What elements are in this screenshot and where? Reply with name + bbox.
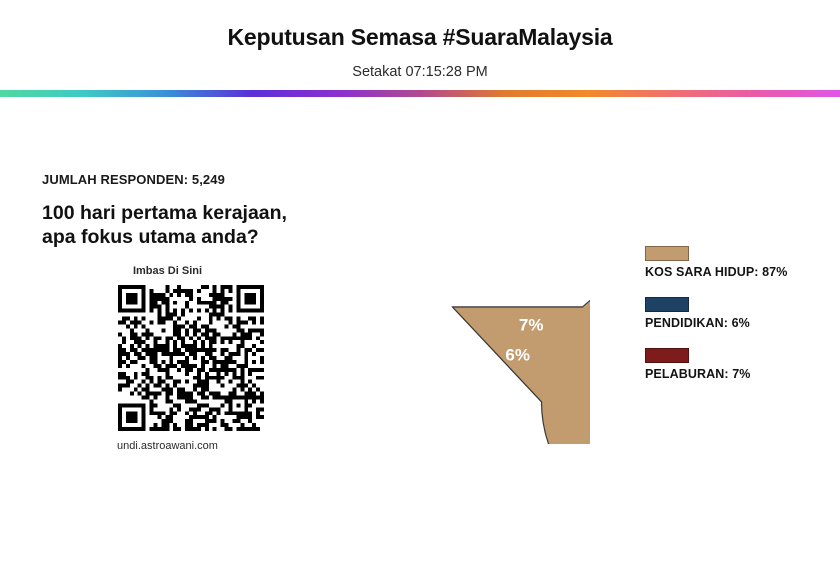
- pie-slice-label: 6%: [505, 345, 530, 364]
- legend-item[interactable]: KOS SARA HIDUP: 87%: [645, 246, 835, 279]
- page-title: Keputusan Semasa #SuaraMalaysia: [0, 24, 840, 51]
- qr-code-image[interactable]: [118, 285, 264, 431]
- pie-slice-label: 87%: [355, 263, 393, 284]
- legend-item[interactable]: PENDIDIKAN: 6%: [645, 297, 835, 330]
- legend-color-swatch: [645, 246, 689, 261]
- qr-url-label: undi.astroawani.com: [40, 440, 340, 452]
- qr-block: Imbas Di Sini undi.astroawani.com: [40, 265, 340, 452]
- legend-item-label: KOS SARA HIDUP: 87%: [645, 265, 835, 279]
- qr-caption-label: Imbas Di Sini: [40, 265, 340, 277]
- respondent-count-label: JUMLAH RESPONDEN: 5,249: [42, 172, 340, 187]
- legend-item[interactable]: PELABURAN: 7%: [645, 348, 835, 381]
- poll-info-panel: JUMLAH RESPONDEN: 5,249 100 hari pertama…: [40, 172, 340, 452]
- pie-chart: 7%6%87%: [318, 172, 590, 444]
- legend-color-swatch: [645, 297, 689, 312]
- legend-item-label: PENDIDIKAN: 6%: [645, 316, 835, 330]
- page-header: Keputusan Semasa #SuaraMalaysia Setakat …: [0, 0, 840, 90]
- chart-legend: KOS SARA HIDUP: 87%PENDIDIKAN: 6%PELABUR…: [645, 246, 835, 399]
- page-subtitle-timestamp: Setakat 07:15:28 PM: [0, 64, 840, 80]
- pie-slice-label: 7%: [519, 316, 544, 335]
- gradient-divider-bar: [0, 90, 840, 97]
- legend-item-label: PELABURAN: 7%: [645, 367, 835, 381]
- legend-color-swatch: [645, 348, 689, 363]
- poll-question-text: 100 hari pertama kerajaan, apa fokus uta…: [42, 201, 322, 249]
